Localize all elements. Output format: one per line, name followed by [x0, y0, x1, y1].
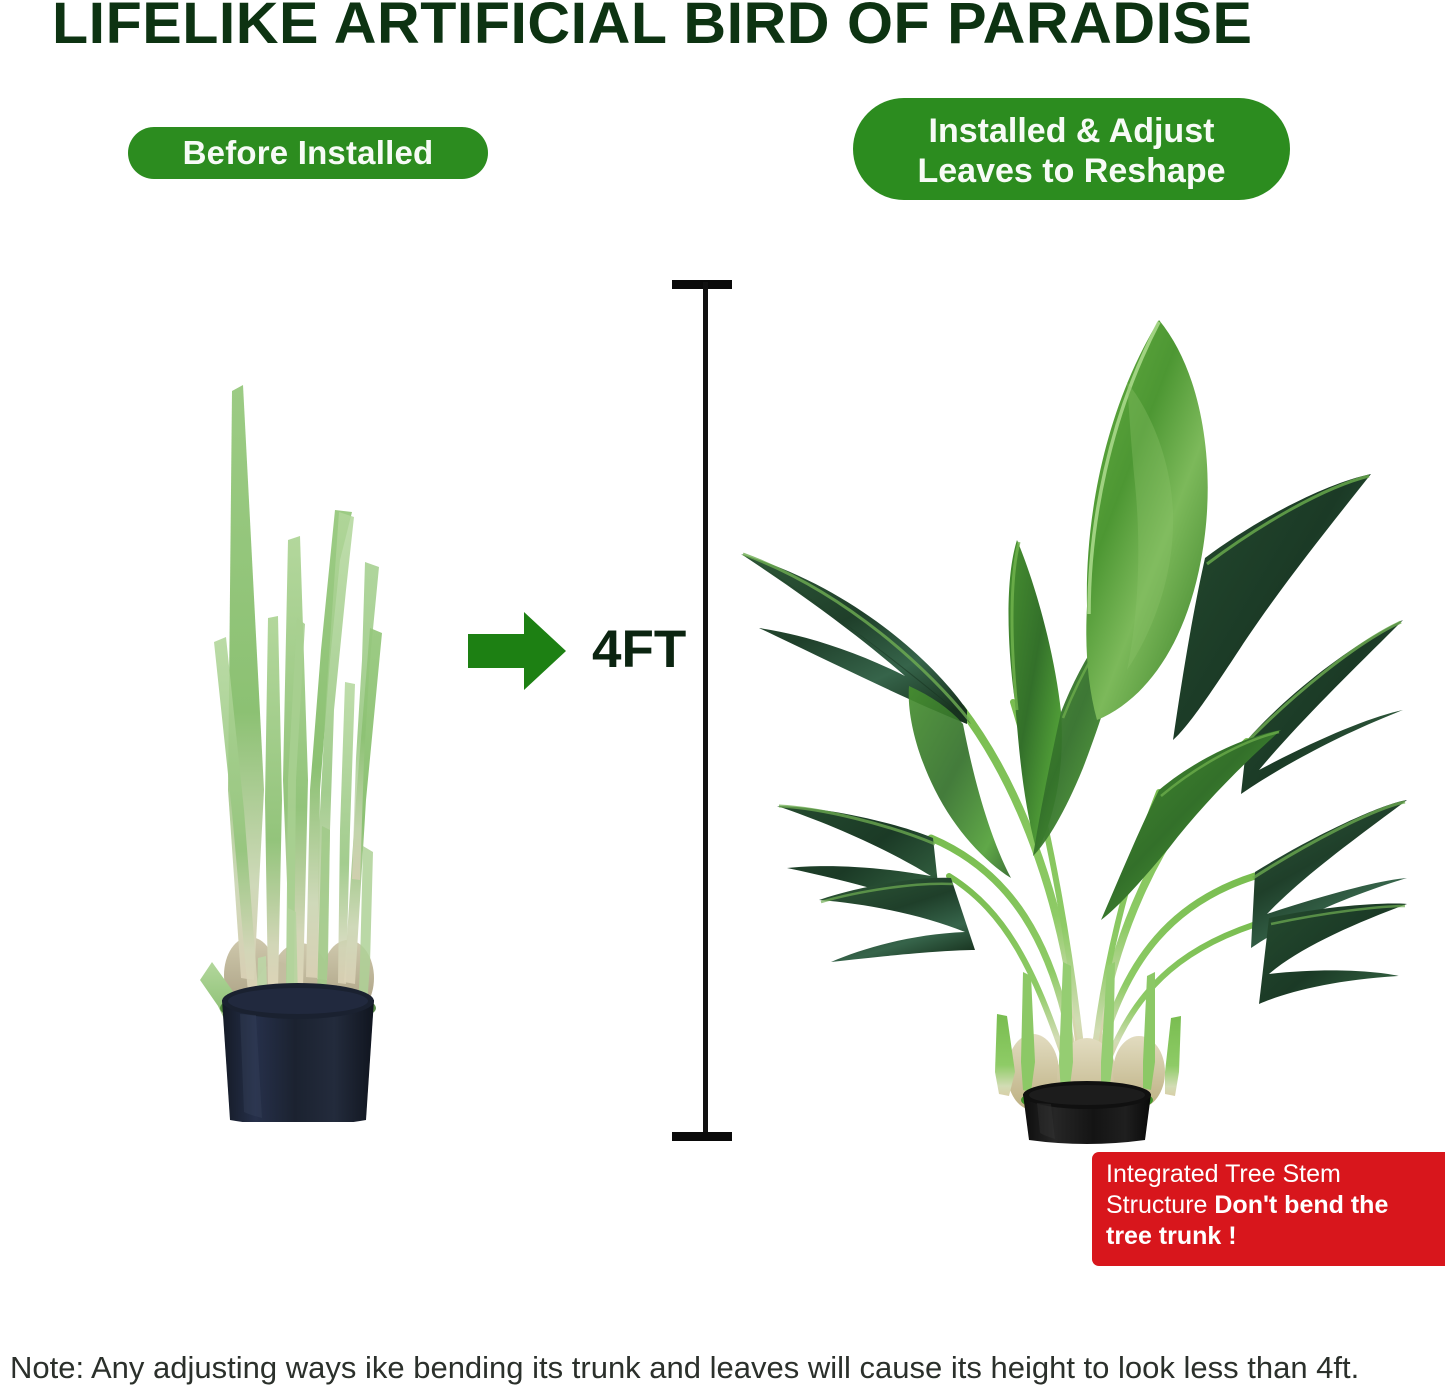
plant-pot — [222, 983, 374, 1122]
plant-pot — [1023, 1081, 1151, 1144]
product-image-installed — [735, 272, 1407, 1144]
plant-stem-cluster — [200, 385, 382, 1052]
measurement-top-cap — [672, 280, 732, 289]
badge-before-installed-label: Before Installed — [183, 134, 434, 172]
measurement-bottom-cap — [672, 1132, 732, 1141]
badge-installed-adjust: Installed & Adjust Leaves to Reshape — [853, 98, 1290, 200]
badge-installed-adjust-line1: Installed & Adjust — [929, 111, 1215, 151]
measurement-line — [703, 282, 708, 1140]
height-measurement-bar — [672, 278, 736, 1144]
warning-badge: Integrated Tree Stem Structure Don't ben… — [1092, 1152, 1445, 1266]
product-image-before-installed — [170, 360, 426, 1122]
badge-before-installed: Before Installed — [128, 127, 488, 179]
warning-text-strong-line1: Don't bend — [1214, 1191, 1344, 1219]
badge-installed-adjust-line2: Leaves to Reshape — [917, 151, 1225, 191]
arrow-right-icon — [468, 612, 566, 690]
page-title: LIFELIKE ARTIFICIAL BIRD OF PARADISE — [52, 0, 1409, 57]
footer-note: Note: Any adjusting ways ike bending its… — [10, 1348, 1435, 1388]
